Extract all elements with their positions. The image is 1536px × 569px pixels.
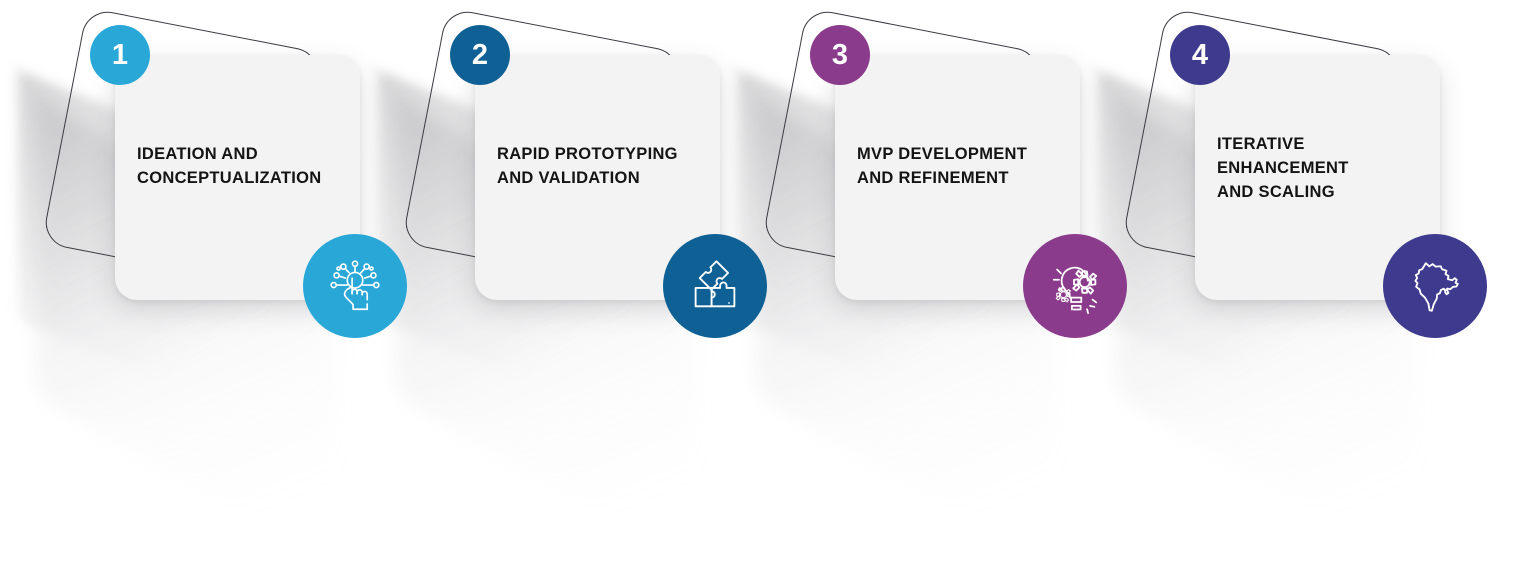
step-title: MVP DEVELOPMENT AND REFINEMENT — [857, 143, 1072, 191]
puzzle-pieces-icon — [663, 234, 767, 338]
step-card-3[interactable]: MVP DEVELOPMENT AND REFINEMENT 3 — [720, 0, 1080, 431]
step-number-badge: 1 — [90, 25, 150, 85]
step-card-4[interactable]: ITERATIVE ENHANCEMENT AND SCALING 4 — [1080, 0, 1440, 431]
step-title: ITERATIVE ENHANCEMENT AND SCALING — [1217, 133, 1432, 205]
step-card-1[interactable]: IDEATION AND CONCEPTUALIZATION 1 — [0, 0, 360, 431]
step-number-label: 3 — [832, 41, 848, 70]
step-number-label: 2 — [472, 41, 488, 70]
step-number-badge: 2 — [450, 25, 510, 85]
step-number-badge: 3 — [810, 25, 870, 85]
step-card-2[interactable]: RAPID PROTOTYPING AND VALIDATION 2 — [360, 0, 720, 431]
process-infographic: IDEATION AND CONCEPTUALIZATION 1 — [0, 0, 1536, 431]
step-title: IDEATION AND CONCEPTUALIZATION — [137, 143, 352, 191]
step-number-badge: 4 — [1170, 25, 1230, 85]
touch-network-icon — [303, 234, 407, 338]
step-title: RAPID PROTOTYPING AND VALIDATION — [497, 143, 712, 191]
lightbulb-gears-icon — [1023, 234, 1127, 338]
step-number-label: 4 — [1192, 41, 1208, 70]
step-number-label: 1 — [112, 41, 128, 70]
india-map-icon — [1383, 234, 1487, 338]
